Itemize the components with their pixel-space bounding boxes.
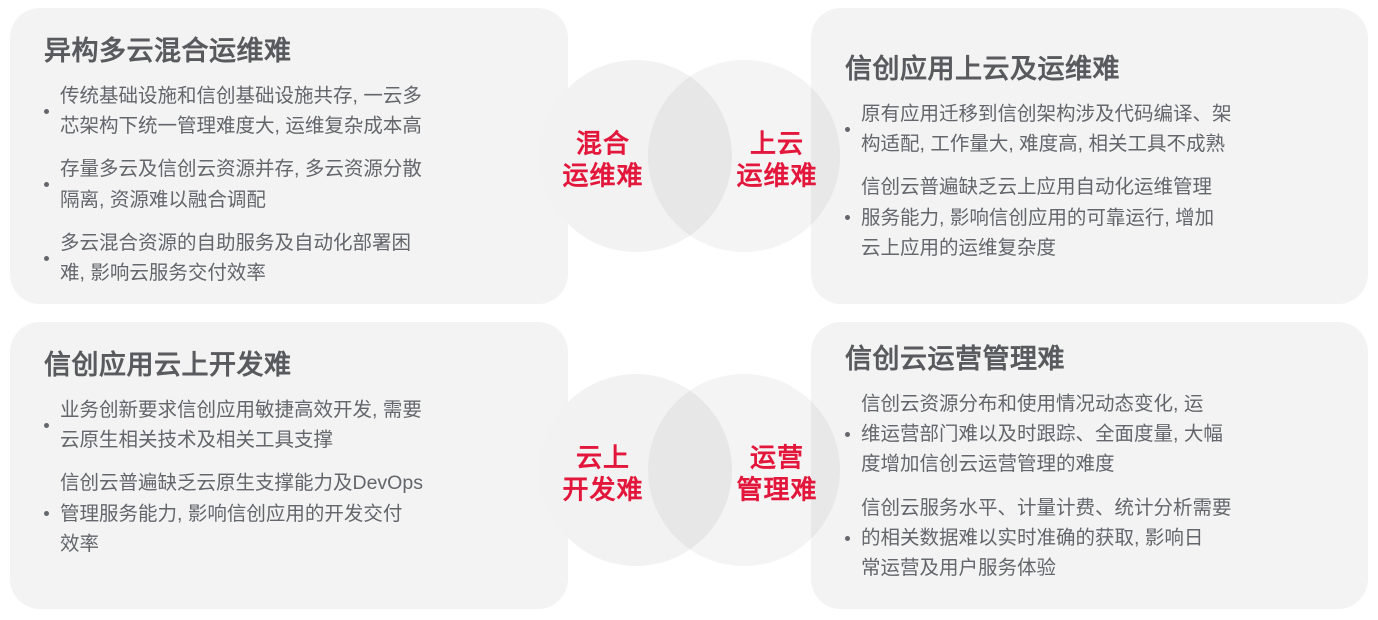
list-item-text: 信创云资源分布和使用情况动态变化, 运 维运营部门难以及时跟踪、全面度量, 大幅… — [861, 389, 1342, 480]
bullet-list: 信创云资源分布和使用情况动态变化, 运 维运营部门难以及时跟踪、全面度量, 大幅… — [845, 389, 1342, 583]
bullet-dot-icon — [845, 215, 850, 220]
card-xinchuang-cloud-operations-management: 信创云运营管理难 信创云资源分布和使用情况动态变化, 运 维运营部门难以及时跟踪… — [811, 322, 1368, 609]
bullet-dot-icon — [44, 423, 49, 428]
bullet-dot-icon — [845, 127, 850, 132]
bullet-dot-icon — [44, 182, 49, 187]
list-item: 多云混合资源的自助服务及自动化部署困 难, 影响云服务交付效率 — [44, 228, 542, 288]
venn-label-hybrid-ops: 混合 运维难 — [538, 128, 668, 191]
card-title: 异构多云混合运维难 — [44, 36, 542, 67]
list-item: 信创云普遍缺乏云上应用自动化运维管理 服务能力, 影响信创应用的可靠运行, 增加… — [845, 172, 1342, 263]
bullet-list: 原有应用迁移到信创架构涉及代码编译、架 构适配, 工作量大, 难度高, 相关工具… — [845, 99, 1342, 263]
list-item-text: 原有应用迁移到信创架构涉及代码编译、架 构适配, 工作量大, 难度高, 相关工具… — [861, 99, 1342, 159]
list-item-text: 多云混合资源的自助服务及自动化部署困 难, 影响云服务交付效率 — [60, 228, 542, 288]
list-item: 信创云服务水平、计量计费、统计分析需要 的相关数据难以实时准确的获取, 影响日 … — [845, 493, 1342, 584]
list-item-text: 传统基础设施和信创基础设施共存, 一云多 芯架构下统一管理难度大, 运维复杂成本… — [60, 81, 542, 141]
venn-label-cloud-migration-ops: 上云 运维难 — [712, 128, 842, 191]
list-item-text: 业务创新要求信创应用敏捷高效开发, 需要 云原生相关技术及相关工具支撑 — [60, 395, 542, 455]
list-item-text: 信创云普遍缺乏云原生支撑能力及DevOps 管理服务能力, 影响信创应用的开发交… — [60, 468, 542, 559]
bullet-dot-icon — [44, 511, 49, 516]
list-item: 原有应用迁移到信创架构涉及代码编译、架 构适配, 工作量大, 难度高, 相关工具… — [845, 99, 1342, 159]
card-title: 信创应用云上开发难 — [44, 350, 542, 381]
venn-label-operations-management: 运营 管理难 — [712, 442, 842, 505]
list-item-text: 存量多云及信创云资源并存, 多云资源分散 隔离, 资源难以融合调配 — [60, 154, 542, 214]
slide-canvas: 异构多云混合运维难 传统基础设施和信创基础设施共存, 一云多 芯架构下统一管理难… — [0, 0, 1378, 620]
card-title: 信创云运营管理难 — [845, 344, 1342, 375]
list-item: 信创云资源分布和使用情况动态变化, 运 维运营部门难以及时跟踪、全面度量, 大幅… — [845, 389, 1342, 480]
bullet-list: 业务创新要求信创应用敏捷高效开发, 需要 云原生相关技术及相关工具支撑 信创云普… — [44, 395, 542, 559]
list-item: 信创云普遍缺乏云原生支撑能力及DevOps 管理服务能力, 影响信创应用的开发交… — [44, 468, 542, 559]
card-heterogeneous-multicloud-ops: 异构多云混合运维难 传统基础设施和信创基础设施共存, 一云多 芯架构下统一管理难… — [10, 8, 568, 304]
list-item-text: 信创云普遍缺乏云上应用自动化运维管理 服务能力, 影响信创应用的可靠运行, 增加… — [861, 172, 1342, 263]
card-title: 信创应用上云及运维难 — [845, 54, 1342, 85]
venn-label-cloud-development: 云上 开发难 — [538, 442, 668, 505]
bullet-dot-icon — [44, 109, 49, 114]
list-item: 传统基础设施和信创基础设施共存, 一云多 芯架构下统一管理难度大, 运维复杂成本… — [44, 81, 542, 141]
bullet-list: 传统基础设施和信创基础设施共存, 一云多 芯架构下统一管理难度大, 运维复杂成本… — [44, 81, 542, 288]
bullet-dot-icon — [845, 536, 850, 541]
list-item: 存量多云及信创云资源并存, 多云资源分散 隔离, 资源难以融合调配 — [44, 154, 542, 214]
list-item-text: 信创云服务水平、计量计费、统计分析需要 的相关数据难以实时准确的获取, 影响日 … — [861, 493, 1342, 584]
list-item: 业务创新要求信创应用敏捷高效开发, 需要 云原生相关技术及相关工具支撑 — [44, 395, 542, 455]
card-xinchuang-app-cloud-development: 信创应用云上开发难 业务创新要求信创应用敏捷高效开发, 需要 云原生相关技术及相… — [10, 322, 568, 609]
bullet-dot-icon — [845, 432, 850, 437]
bullet-dot-icon — [44, 256, 49, 261]
venn-diagram-top: 混合 运维难 上云 运维难 — [540, 60, 840, 260]
venn-diagram-bottom: 云上 开发难 运营 管理难 — [540, 374, 840, 574]
card-xinchuang-app-cloud-migration-ops: 信创应用上云及运维难 原有应用迁移到信创架构涉及代码编译、架 构适配, 工作量大… — [811, 8, 1368, 304]
